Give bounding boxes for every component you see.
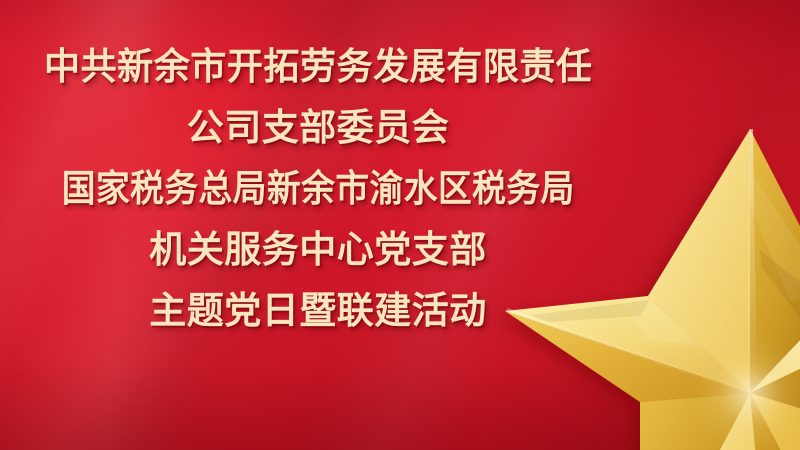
headline-line-5: 主题党日暨联建活动 [0,292,636,353]
banner-canvas: 中共新余市开拓劳务发展有限责任 公司支部委员会 国家税务总局新余市渝水区税务局 … [0,0,800,450]
headline-line-1-text: 中共新余市开拓劳务发展有限责任 [44,48,592,85]
headline-line-5-text: 主题党日暨联建活动 [149,292,487,329]
headline-line-3-text: 国家税务总局新余市渝水区税务局 [62,170,575,207]
headline-line-4: 机关服务中心党支部 [0,231,636,292]
headline-line-3: 国家税务总局新余市渝水区税务局 [0,170,636,231]
headline-line-2-text: 公司支部委员会 [187,109,450,146]
headline-line-1: 中共新余市开拓劳务发展有限责任 [0,48,636,109]
headline-line-2: 公司支部委员会 [0,109,636,170]
headline-line-4-text: 机关服务中心党支部 [149,231,487,268]
headline-block: 中共新余市开拓劳务发展有限责任 公司支部委员会 国家税务总局新余市渝水区税务局 … [0,48,636,353]
